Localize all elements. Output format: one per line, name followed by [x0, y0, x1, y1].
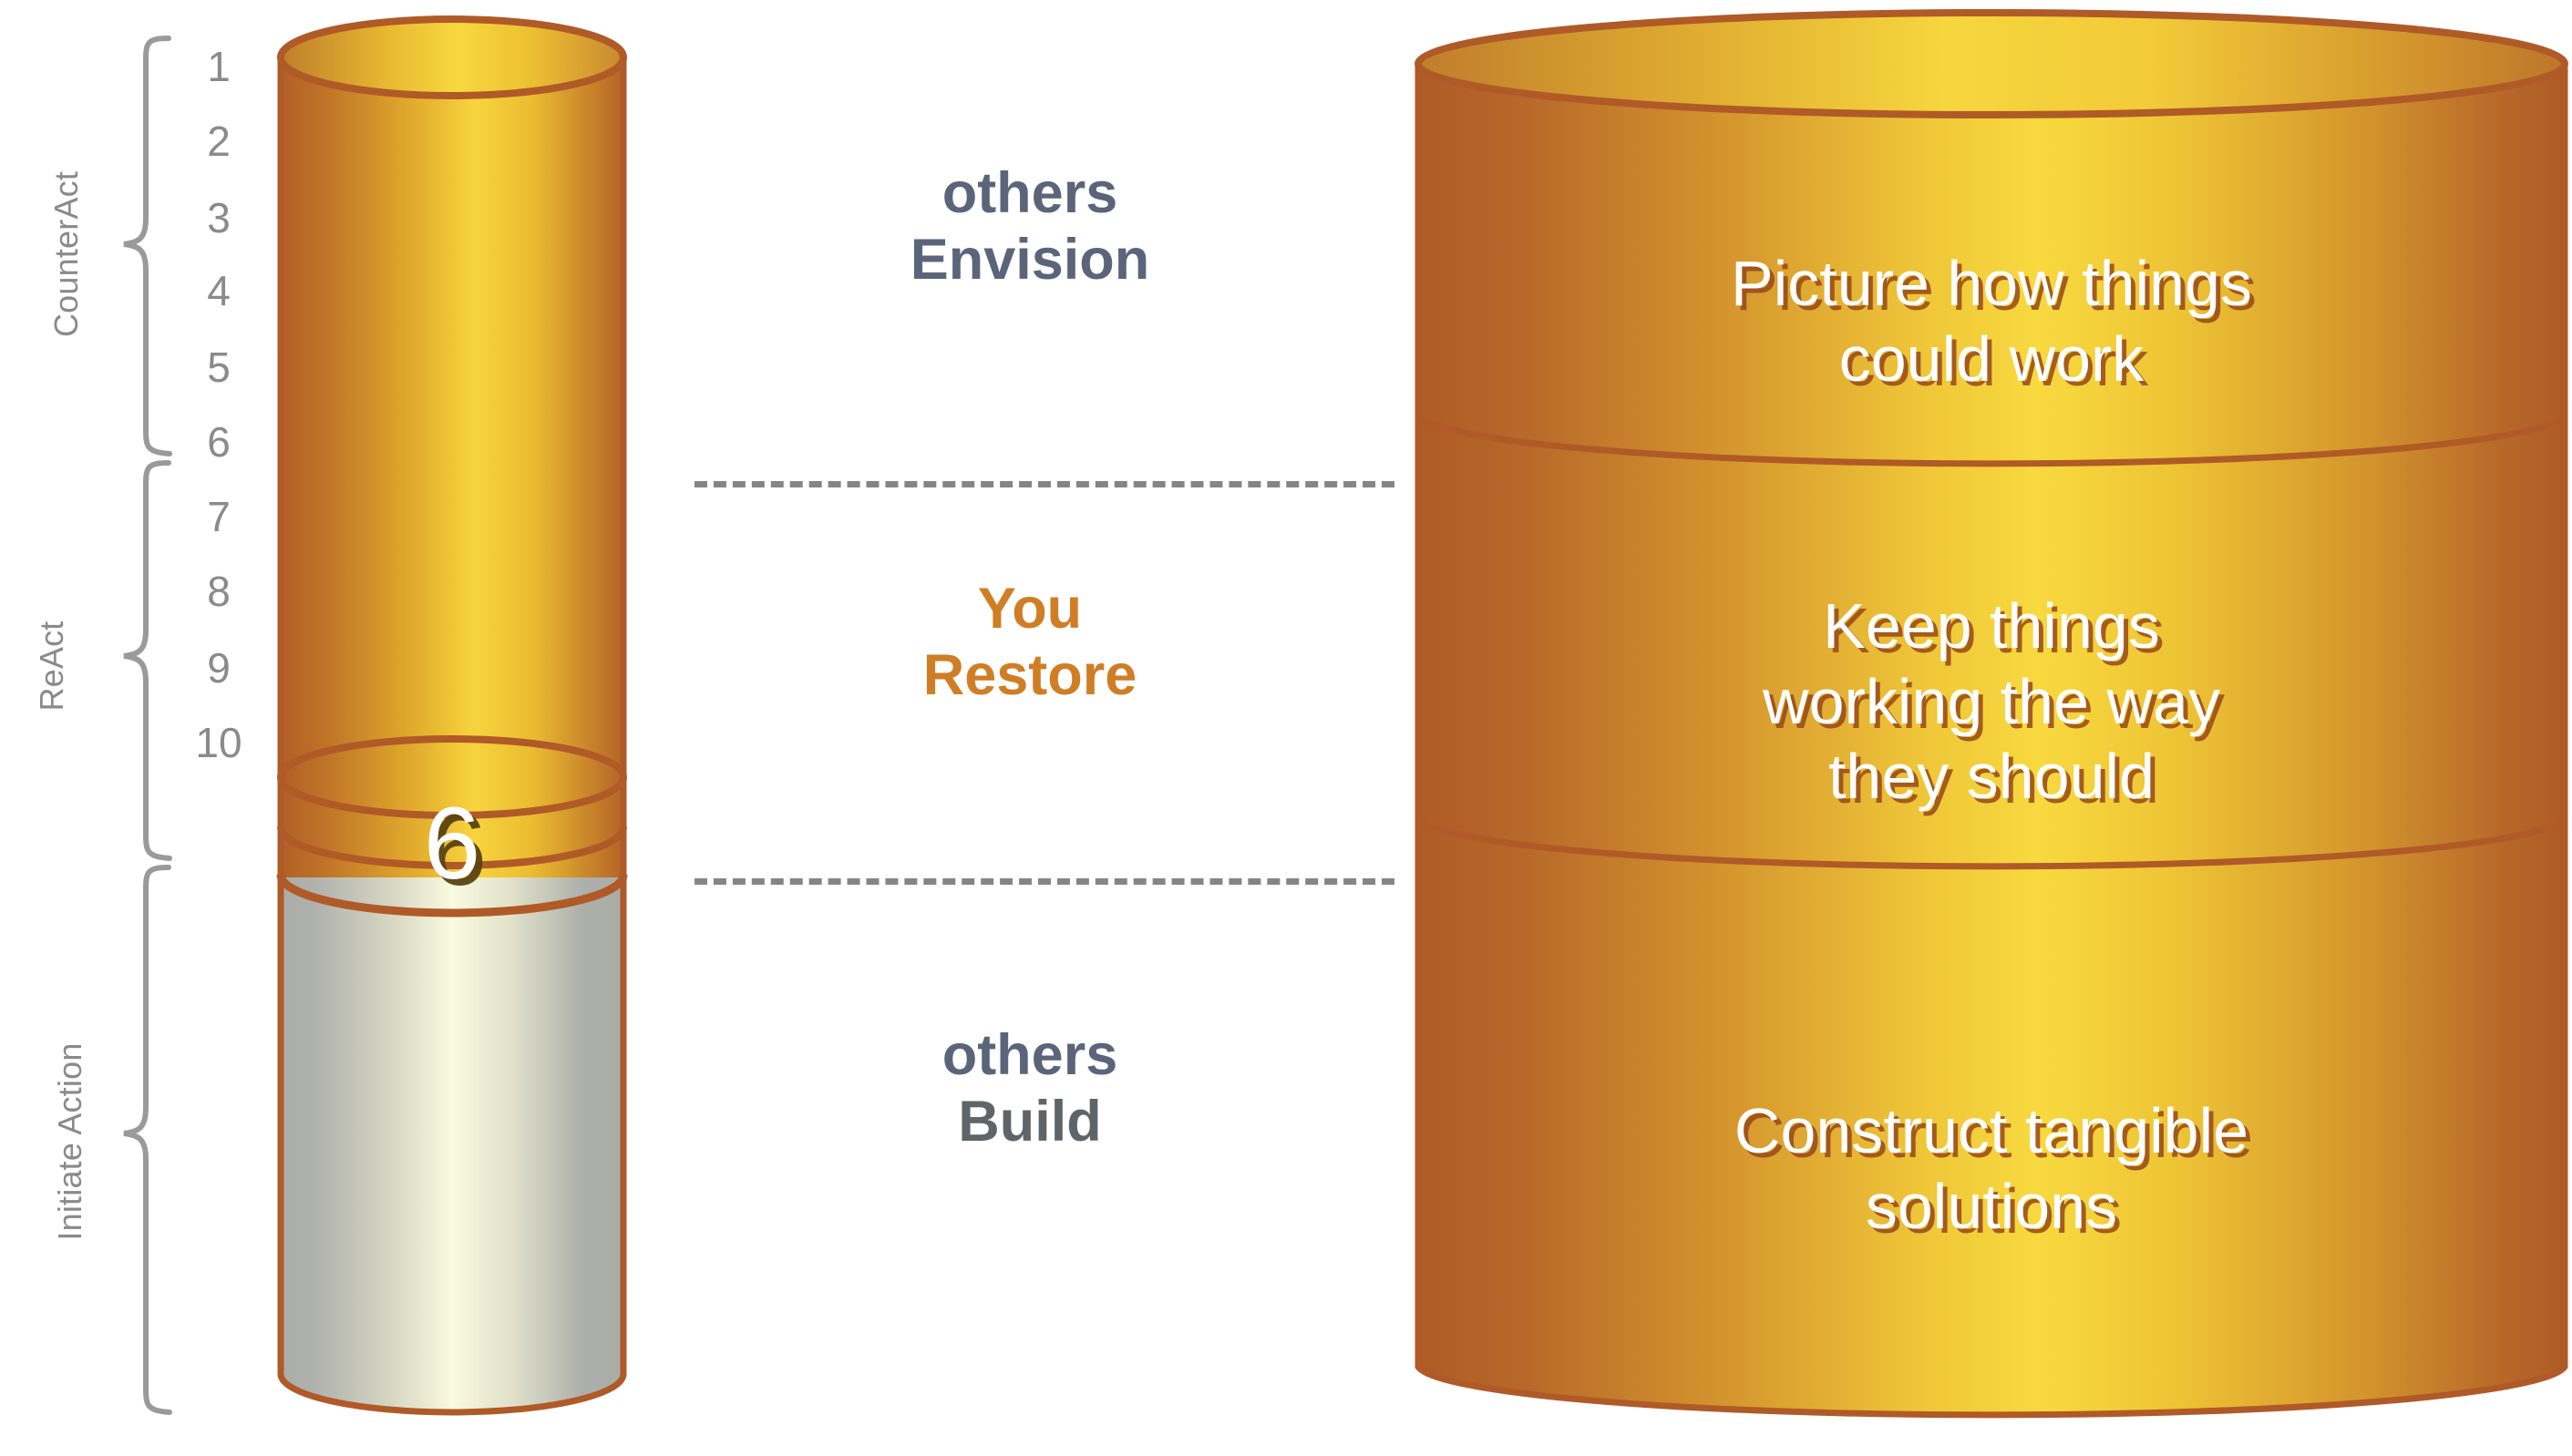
- description-graphics: [1411, 7, 2572, 1438]
- tick-number: 1: [182, 46, 255, 87]
- divider-dashed-top: [694, 481, 1394, 487]
- brace-initiate-action: [124, 867, 170, 1412]
- tick-number: 3: [182, 197, 255, 239]
- brace-label-counteract: CounterAct: [47, 145, 86, 364]
- caption-envision: others Envision: [684, 160, 1376, 293]
- gauge-value-label: 6: [270, 793, 634, 895]
- gauge-top-rim: [281, 19, 623, 96]
- description-cylinder: Picture how thingscould work Keep things…: [1411, 7, 2572, 1438]
- description-fill: [1411, 7, 2572, 1438]
- brace-react: [124, 463, 170, 858]
- caption-actor: others: [684, 160, 1376, 227]
- tick-number: 10: [171, 722, 266, 764]
- tick-number: 2: [182, 120, 255, 162]
- gauge-cylinder: 6: [270, 7, 634, 1438]
- description-top-rim: [1418, 13, 2565, 115]
- scale-axis: CounterAct ReAct Initiate Action 1 2 3 4…: [0, 0, 273, 1451]
- caption-actor: others: [684, 1022, 1376, 1089]
- caption-action: Restore: [684, 642, 1376, 709]
- brace-label-react: ReAct: [33, 557, 71, 775]
- caption-action: Envision: [684, 227, 1376, 293]
- gauge-filled-region: [270, 7, 634, 877]
- gauge-graphics: [270, 7, 634, 1438]
- caption-actor: You: [684, 576, 1376, 642]
- tick-number: 4: [182, 270, 255, 312]
- tick-number: 6: [182, 421, 255, 463]
- tick-number: 8: [182, 570, 255, 612]
- caption-action: Build: [684, 1089, 1376, 1155]
- caption-restore: You Restore: [684, 576, 1376, 709]
- brace-label-initiate-action: Initiate Action: [51, 1023, 89, 1260]
- caption-build: others Build: [684, 1022, 1376, 1155]
- tick-number: 5: [182, 346, 255, 388]
- divider-dashed-bottom: [694, 878, 1394, 885]
- brace-counteract: [124, 38, 170, 454]
- gauge-empty-region: [270, 877, 634, 1438]
- gauge-body: [270, 7, 634, 1438]
- tick-number: 9: [182, 647, 255, 689]
- tick-number: 7: [182, 496, 255, 538]
- description-body: [1411, 7, 2572, 1438]
